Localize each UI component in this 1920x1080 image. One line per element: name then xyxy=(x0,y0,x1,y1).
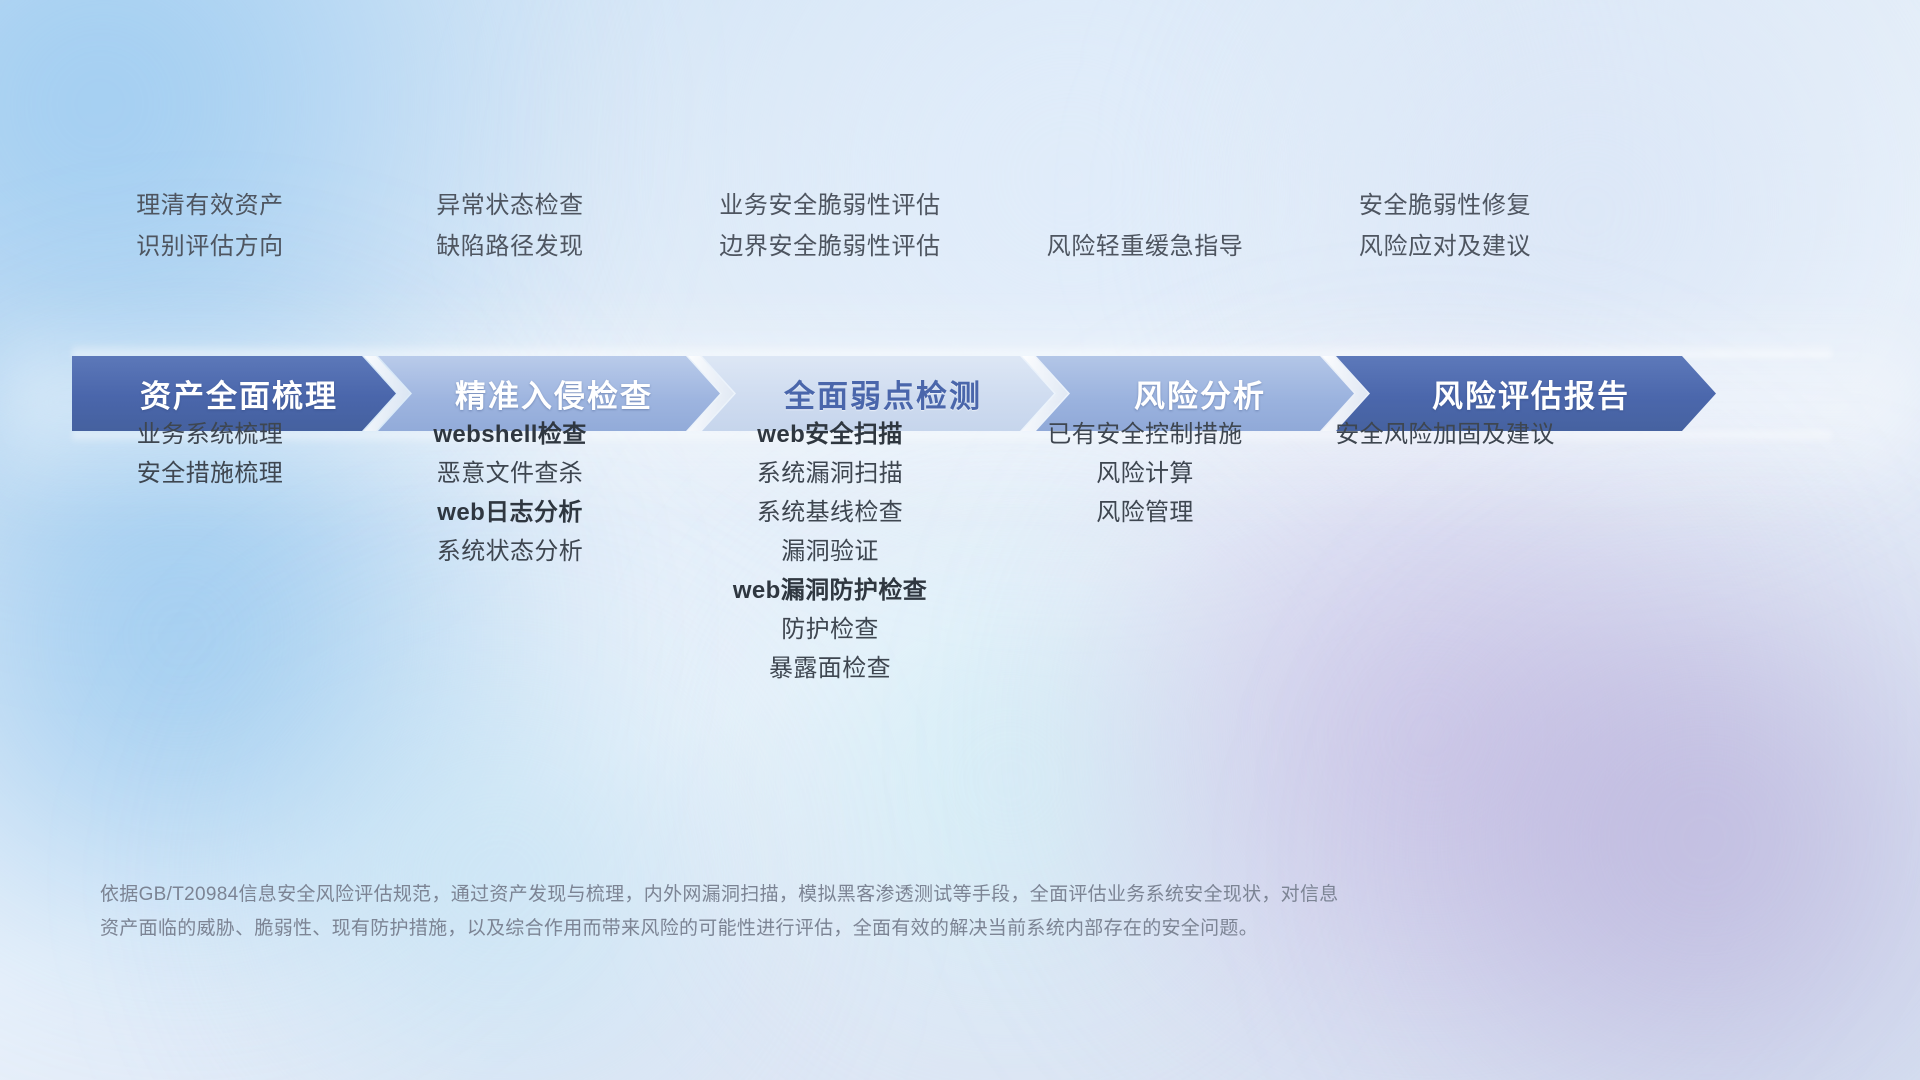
list-item: 防护检查 xyxy=(660,610,1000,649)
list-item: web漏洞防护检查 xyxy=(660,571,1000,610)
top-item: 边界安全脆弱性评估 xyxy=(660,226,1000,267)
top-list: 安全脆弱性修复 风险应对及建议 xyxy=(1290,185,1600,267)
list-item: 暴露面检查 xyxy=(660,649,1000,688)
top-item: 缺陷路径发现 xyxy=(360,226,660,267)
chevron-label: 全面弱点检测 xyxy=(774,371,982,416)
list-item: 系统状态分析 xyxy=(360,532,660,571)
list-item: 系统漏洞扫描 xyxy=(660,454,1000,493)
top-list: 风险轻重缓急指导 xyxy=(1000,185,1290,267)
top-list: 业务安全脆弱性评估 边界安全脆弱性评估 xyxy=(660,185,1000,267)
list-item: web安全扫描 xyxy=(660,415,1000,454)
bottom-list: webshell检查 恶意文件查杀 web日志分析 系统状态分析 xyxy=(360,415,660,571)
bottom-label-row: 业务系统梳理 安全措施梳理 webshell检查 恶意文件查杀 web日志分析 … xyxy=(60,415,1860,688)
top-column-risk-report: 安全脆弱性修复 风险应对及建议 xyxy=(1290,185,1600,267)
list-item: web日志分析 xyxy=(360,493,660,532)
list-item: 安全措施梳理 xyxy=(60,454,360,493)
bottom-list: 已有安全控制措施 风险计算 风险管理 xyxy=(1000,415,1290,532)
top-item: 风险应对及建议 xyxy=(1290,226,1600,267)
list-item: 安全风险加固及建议 xyxy=(1290,415,1600,454)
bottom-list: 业务系统梳理 安全措施梳理 xyxy=(60,415,360,493)
list-item: 已有安全控制措施 xyxy=(1000,415,1290,454)
top-item: 识别评估方向 xyxy=(60,226,360,267)
bottom-column-weakness-detection: web安全扫描 系统漏洞扫描 系统基线检查 漏洞验证 web漏洞防护检查 防护检… xyxy=(660,415,1000,688)
top-column-asset-inventory: 理清有效资产 识别评估方向 xyxy=(60,185,360,267)
top-list: 理清有效资产 识别评估方向 xyxy=(60,185,360,267)
list-item: 风险管理 xyxy=(1000,493,1290,532)
band-highlight-top xyxy=(72,342,1832,358)
chevron-label: 风险评估报告 xyxy=(1422,371,1630,416)
chevron-label: 风险分析 xyxy=(1124,371,1266,416)
top-label-row: 理清有效资产 识别评估方向 异常状态检查 缺陷路径发现 业务安全脆弱性评估 边界… xyxy=(60,185,1860,267)
footer-line-2: 资产面临的威胁、脆弱性、现有防护措施，以及综合作用而带来风险的可能性进行评估，全… xyxy=(100,912,1620,946)
bottom-column-risk-report: 安全风险加固及建议 xyxy=(1290,415,1600,688)
chevron-label: 精准入侵检查 xyxy=(445,371,653,416)
list-item: 漏洞验证 xyxy=(660,532,1000,571)
bottom-column-intrusion-check: webshell检查 恶意文件查杀 web日志分析 系统状态分析 xyxy=(360,415,660,688)
top-item: 安全脆弱性修复 xyxy=(1290,185,1600,226)
top-column-intrusion-check: 异常状态检查 缺陷路径发现 xyxy=(360,185,660,267)
bottom-list: web安全扫描 系统漏洞扫描 系统基线检查 漏洞验证 web漏洞防护检查 防护检… xyxy=(660,415,1000,688)
chevron-label: 资产全面梳理 xyxy=(130,371,338,416)
bottom-list: 安全风险加固及建议 xyxy=(1290,415,1600,454)
list-item: 业务系统梳理 xyxy=(60,415,360,454)
top-item: 风险轻重缓急指导 xyxy=(1000,226,1290,267)
process-diagram: 理清有效资产 识别评估方向 异常状态检查 缺陷路径发现 业务安全脆弱性评估 边界… xyxy=(0,0,1920,1080)
footer-line-1: 依据GB/T20984信息安全风险评估规范，通过资产发现与梳理，内外网漏洞扫描，… xyxy=(100,878,1620,912)
top-item: 异常状态检查 xyxy=(360,185,660,226)
list-item: 系统基线检查 xyxy=(660,493,1000,532)
top-column-weakness-detection: 业务安全脆弱性评估 边界安全脆弱性评估 xyxy=(660,185,1000,267)
list-item: 风险计算 xyxy=(1000,454,1290,493)
top-list: 异常状态检查 缺陷路径发现 xyxy=(360,185,660,267)
list-item: 恶意文件查杀 xyxy=(360,454,660,493)
bottom-column-risk-analysis: 已有安全控制措施 风险计算 风险管理 xyxy=(1000,415,1290,688)
top-item: 业务安全脆弱性评估 xyxy=(660,185,1000,226)
footer-description: 依据GB/T20984信息安全风险评估规范，通过资产发现与梳理，内外网漏洞扫描，… xyxy=(100,878,1620,946)
top-item: 理清有效资产 xyxy=(60,185,360,226)
bottom-column-asset-inventory: 业务系统梳理 安全措施梳理 xyxy=(60,415,360,688)
top-column-risk-analysis: 风险轻重缓急指导 xyxy=(1000,185,1290,267)
list-item: webshell检查 xyxy=(360,415,660,454)
